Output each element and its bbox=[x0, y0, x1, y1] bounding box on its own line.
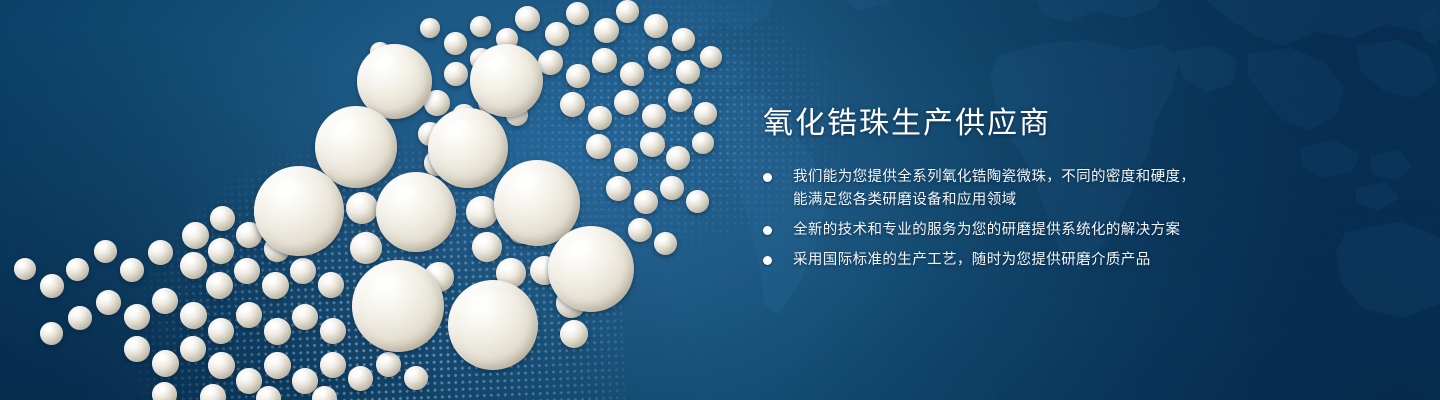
feature-text-line1: 我们能为您提供全系列氧化锆陶瓷微珠，不同的密度和硬度， bbox=[793, 169, 1195, 185]
list-item: 采用国际标准的生产工艺，随时为您提供研磨介质产品 bbox=[763, 249, 1323, 272]
feature-list: 我们能为您提供全系列氧化锆陶瓷微珠，不同的密度和硬度， 能满足您各类研磨设备和应… bbox=[763, 166, 1323, 272]
banner-copy: 氧化锆珠生产供应商 我们能为您提供全系列氧化锆陶瓷微珠，不同的密度和硬度， 能满… bbox=[763, 104, 1323, 279]
list-item: 全新的技术和专业的服务为您的研磨提供系统化的解决方案 bbox=[763, 219, 1323, 242]
zirconia-beads-image bbox=[0, 0, 760, 400]
bullet-dot-icon bbox=[763, 256, 772, 265]
page-title: 氧化锆珠生产供应商 bbox=[763, 104, 1323, 144]
bullet-dot-icon bbox=[763, 173, 772, 182]
feature-text-line2: 能满足您各类研磨设备和应用领域 bbox=[793, 189, 1323, 212]
hero-banner: 氧化锆珠生产供应商 我们能为您提供全系列氧化锆陶瓷微珠，不同的密度和硬度， 能满… bbox=[0, 0, 1440, 400]
feature-text-line1: 采用国际标准的生产工艺，随时为您提供研磨介质产品 bbox=[793, 252, 1151, 268]
list-item: 我们能为您提供全系列氧化锆陶瓷微珠，不同的密度和硬度， 能满足您各类研磨设备和应… bbox=[763, 166, 1323, 212]
bullet-dot-icon bbox=[763, 226, 772, 235]
feature-text-line1: 全新的技术和专业的服务为您的研磨提供系统化的解决方案 bbox=[793, 222, 1180, 238]
